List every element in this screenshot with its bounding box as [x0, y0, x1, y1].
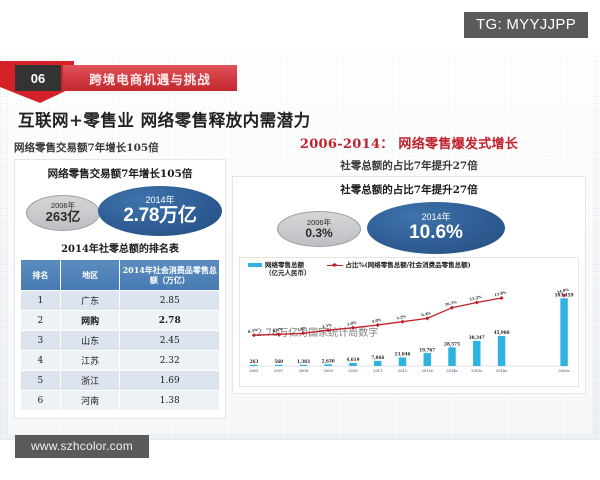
svg-text:2007: 2007 — [274, 369, 284, 373]
cell-value: 2.32 — [120, 351, 220, 371]
table-row: 4 江苏 2.32 — [21, 351, 220, 371]
svg-text:4.0%: 4.0% — [371, 318, 382, 324]
left-bubble-group: 2006年 263亿 2014年 2.78万亿 — [20, 185, 220, 235]
combo-chart: 网络零售总额 （亿元人民币） 占比%(网络零售总额/社会消费品零售总额) 2.7… — [239, 257, 579, 387]
cell-rank: 2 — [21, 311, 61, 331]
cell-region: 河南 — [60, 391, 120, 411]
page-title: 互联网+零售业 网络零售释放内需潜力 — [18, 107, 311, 131]
right-bubble-2014: 2014年 10.6% — [367, 202, 505, 254]
svg-text:6.4%: 6.4% — [421, 311, 432, 317]
svg-text:2014e: 2014e — [446, 369, 457, 373]
svg-text:2011: 2011 — [373, 369, 382, 373]
svg-text:4,619: 4,619 — [346, 357, 359, 362]
left-caption: 网络零售交易额7年增长105倍 — [14, 140, 226, 155]
svg-text:2016e: 2016e — [496, 369, 507, 373]
col-header-total: 2014年社会消费品零售总额（万亿） — [120, 260, 220, 291]
table-row: 1 广东 2.85 — [21, 291, 220, 311]
table-row: 2 网购 2.78 — [21, 311, 220, 331]
cell-value: 2.85 — [120, 291, 220, 311]
svg-text:2012: 2012 — [398, 369, 407, 373]
cell-region: 浙江 — [60, 371, 120, 391]
cell-value: 2.78 — [120, 311, 220, 331]
section-number-badge: 06 — [15, 65, 61, 91]
svg-text:0.3%: 0.3% — [248, 328, 259, 334]
svg-text:2,630: 2,630 — [322, 358, 335, 363]
svg-text:2015e: 2015e — [471, 369, 482, 373]
svg-text:2010: 2010 — [348, 369, 358, 373]
cell-rank: 6 — [21, 391, 61, 411]
svg-text:2.1%: 2.1% — [322, 323, 333, 329]
left-bubble-2014-value: 2.78万亿 — [123, 206, 196, 226]
col-header-region: 地区 — [60, 260, 120, 291]
cell-value: 2.45 — [120, 331, 220, 351]
rank-table: 排名 地区 2014年社会消费品零售总额（万亿） 1 广东 2.85 2 网购 … — [20, 259, 220, 411]
cell-region: 江苏 — [60, 351, 120, 371]
left-panel: 网络零售交易额7年增长105倍 2006年 263亿 2014年 2.78万亿 … — [14, 159, 226, 419]
svg-text:1,383: 1,383 — [297, 359, 310, 364]
svg-text:28,575: 28,575 — [444, 341, 460, 346]
left-column: 网络零售交易额7年增长105倍 网络零售交易额7年增长105倍 2006年 26… — [14, 140, 226, 419]
cell-rank: 1 — [21, 291, 61, 311]
right-column: 2006-2014： 网络零售爆发式增长 社零总额的占比7年提升27倍 社零总额… — [232, 133, 586, 394]
cell-region: 网购 — [60, 311, 120, 331]
cell-rank: 5 — [21, 371, 61, 391]
right-panel-title: 社零总额的占比7年提升27倍 — [239, 182, 579, 197]
svg-text:2008: 2008 — [299, 369, 309, 373]
site-url-tag: www.szhcolor.com — [15, 435, 149, 458]
cell-value: 1.69 — [120, 371, 220, 391]
right-red-title: 2006-2014： 网络零售爆发式增长 — [232, 133, 586, 152]
right-bubble-group: 2006年 0.3% 2014年 10.6% — [239, 201, 579, 253]
cell-value: 1.38 — [120, 391, 220, 411]
right-panel: 社零总额的占比7年提升27倍 2006年 0.3% 2014年 10.6% — [232, 176, 586, 394]
svg-text:560: 560 — [274, 359, 283, 364]
table-row: 5 浙江 1.69 — [21, 371, 220, 391]
section-title-bar: 跨境电商机遇与挑战 — [63, 65, 237, 91]
rank-table-caption: 2014年社零总额的排名表 — [20, 240, 220, 255]
svg-text:2005: 2005 — [249, 369, 258, 373]
left-bubble-2006: 2006年 263亿 — [26, 195, 100, 231]
svg-text:0.6%: 0.6% — [272, 327, 283, 333]
rank-table-body: 1 广东 2.85 2 网购 2.78 3 山东 2.45 — [21, 291, 220, 411]
svg-text:263: 263 — [250, 359, 259, 364]
chart-series-group: 263200556020071,38320082,63020094,619201… — [246, 288, 574, 373]
table-row: 6 河南 1.38 — [21, 391, 220, 411]
svg-text:1.0%: 1.0% — [297, 326, 308, 332]
cell-region: 山东 — [60, 331, 120, 351]
slide-canvas: 06 跨境电商机遇与挑战 互联网+零售业 网络零售释放内需潜力 网络零售交易额7… — [0, 55, 600, 440]
svg-text:10.3%: 10.3% — [444, 300, 457, 307]
cell-rank: 3 — [21, 331, 61, 351]
svg-text:13,046: 13,046 — [395, 352, 411, 357]
col-header-rank: 排名 — [21, 260, 61, 291]
svg-text:7,866: 7,866 — [371, 355, 384, 360]
svg-text:2009: 2009 — [324, 369, 334, 373]
left-bubble-2006-value: 263亿 — [46, 210, 81, 224]
left-bubble-2014: 2014年 2.78万亿 — [98, 186, 222, 236]
right-bubble-2006: 2006年 0.3% — [277, 211, 361, 247]
svg-text:19,767: 19,767 — [419, 347, 435, 352]
svg-text:5.2%: 5.2% — [396, 314, 407, 320]
table-row: 3 山东 2.45 — [21, 331, 220, 351]
right-bubble-2014-value: 10.6% — [409, 223, 463, 243]
svg-text:3.0%: 3.0% — [347, 320, 358, 326]
chart-plot-area: 263200556020071,38320082,63020094,619201… — [240, 258, 578, 386]
telegram-watermark-tag: TG: MYYJJPP — [464, 12, 588, 38]
svg-text:2020e: 2020e — [558, 369, 569, 373]
svg-text:45,980: 45,980 — [494, 330, 510, 335]
right-caption: 社零总额的占比7年提升27倍 — [232, 158, 586, 173]
cell-rank: 4 — [21, 351, 61, 371]
svg-text:12.2%: 12.2% — [469, 295, 482, 302]
left-panel-title: 网络零售交易额7年增长105倍 — [20, 166, 220, 181]
svg-text:13.8%: 13.8% — [494, 290, 507, 297]
svg-text:2013e: 2013e — [422, 369, 433, 373]
table-header-row: 排名 地区 2014年社会消费品零售总额（万亿） — [21, 260, 220, 291]
svg-text:38,347: 38,347 — [469, 335, 485, 340]
cell-region: 广东 — [60, 291, 120, 311]
right-bubble-2006-value: 0.3% — [305, 227, 332, 240]
